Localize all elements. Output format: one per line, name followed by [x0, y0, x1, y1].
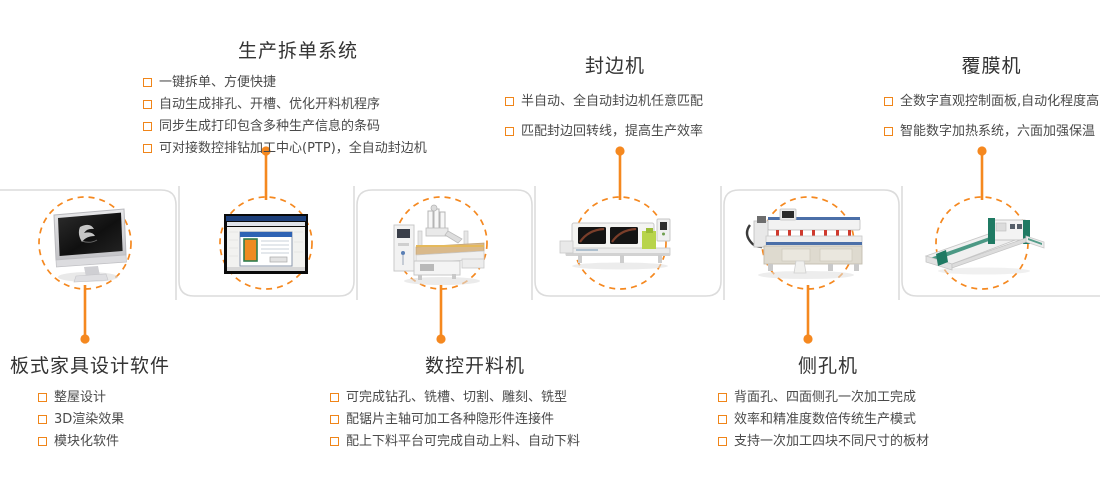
laminating-machine-photo	[922, 214, 1046, 276]
block-title-side-hole: 侧孔机	[718, 355, 958, 378]
bullet-item: 智能数字加热系统，六面加强保温	[884, 117, 1099, 147]
bullet-list-order-splitting: 一键拆单、方便快捷 自动生成排孔、开槽、优化开料机程序 同步生成打印包含多种生产…	[143, 72, 473, 160]
side-drilling-machine-photo	[742, 205, 870, 281]
bullet-square-icon	[330, 393, 339, 402]
connector-dot-4	[615, 146, 624, 155]
text-block-order-splitting: 生产拆单系统 一键拆单、方便快捷 自动生成排孔、开槽、优化开料机程序 同步生成打…	[143, 40, 473, 160]
connector-dot-5	[803, 334, 812, 343]
text-block-side-hole: 侧孔机 背面孔、四面侧孔一次加工完成 效率和精准度数倍传统生产模式 支持一次加工…	[718, 355, 958, 453]
bullet-item: 可对接数控排钻加工中心(PTP)，全自动封边机	[143, 138, 473, 160]
bullet-text: 可对接数控排钻加工中心(PTP)，全自动封边机	[159, 138, 427, 160]
bullet-item: 整屋设计	[38, 387, 170, 409]
node-order-splitting[interactable]	[224, 214, 308, 274]
bullet-text: 配锯片主轴可加工各种隐形件连接件	[346, 409, 554, 431]
bullet-item: 配锯片主轴可加工各种隐形件连接件	[330, 409, 630, 431]
node-cnc-cutting[interactable]	[388, 203, 492, 287]
bullet-list-side-hole: 背面孔、四面侧孔一次加工完成 效率和精准度数倍传统生产模式 支持一次加工四块不同…	[718, 387, 958, 453]
bullet-text: 全数字直观控制面板,自动化程度高	[900, 87, 1099, 117]
node-laminating[interactable]	[922, 214, 1046, 276]
imac-computer-photo	[40, 205, 132, 283]
bullet-square-icon	[143, 144, 152, 153]
bullet-list-edge-banding: 半自动、全自动封边机任意匹配 匹配封边回转线，提高生产效率	[505, 87, 735, 147]
bullet-item: 背面孔、四面侧孔一次加工完成	[718, 387, 958, 409]
bullet-square-icon	[718, 437, 727, 446]
bullet-item: 全数字直观控制面板,自动化程度高	[884, 87, 1099, 117]
bullet-item: 自动生成排孔、开槽、优化开料机程序	[143, 94, 473, 116]
bullet-text: 半自动、全自动封边机任意匹配	[521, 87, 703, 117]
bullet-item: 效率和精准度数倍传统生产模式	[718, 409, 958, 431]
bullet-square-icon	[143, 100, 152, 109]
bullet-item: 一键拆单、方便快捷	[143, 72, 473, 94]
bullet-square-icon	[330, 415, 339, 424]
software-screen-photo	[224, 214, 308, 274]
block-title-cnc-cutting: 数控开料机	[330, 355, 630, 378]
bullet-text: 可完成钻孔、铣槽、切割、雕刻、铣型	[346, 387, 567, 409]
bullet-text: 智能数字加热系统，六面加强保温	[900, 117, 1095, 147]
bullet-text: 匹配封边回转线，提高生产效率	[521, 117, 703, 147]
bullet-square-icon	[884, 127, 893, 136]
bullet-square-icon	[884, 97, 893, 106]
bullet-text: 背面孔、四面侧孔一次加工完成	[734, 387, 916, 409]
text-block-cnc-cutting: 数控开料机 可完成钻孔、铣槽、切割、雕刻、铣型 配锯片主轴可加工各种隐形件连接件…	[330, 355, 630, 453]
bullet-item: 支持一次加工四块不同尺寸的板材	[718, 431, 958, 453]
bullet-text: 3D渲染效果	[54, 409, 124, 431]
connector-dot-3	[436, 334, 445, 343]
bullet-square-icon	[38, 415, 47, 424]
block-title-design-software: 板式家具设计软件	[10, 355, 170, 378]
bullet-text: 模块化软件	[54, 431, 119, 453]
bullet-square-icon	[718, 393, 727, 402]
block-title-laminating: 覆膜机	[884, 55, 1099, 78]
block-title-order-splitting: 生产拆单系统	[143, 40, 473, 63]
bullet-text: 支持一次加工四块不同尺寸的板材	[734, 431, 929, 453]
bullet-square-icon	[718, 415, 727, 424]
bullet-item: 匹配封边回转线，提高生产效率	[505, 117, 735, 147]
connector-dot-6	[977, 146, 986, 155]
bullet-text: 效率和精准度数倍传统生产模式	[734, 409, 916, 431]
bullet-text: 一键拆单、方便快捷	[159, 72, 276, 94]
bullet-item: 3D渲染效果	[38, 409, 170, 431]
bullet-text: 同步生成打印包含多种生产信息的条码	[159, 116, 380, 138]
node-edge-banding[interactable]	[558, 215, 684, 271]
node-side-hole[interactable]	[742, 205, 870, 281]
bullet-square-icon	[505, 127, 514, 136]
bullet-item: 半自动、全自动封边机任意匹配	[505, 87, 735, 117]
text-block-laminating: 覆膜机 全数字直观控制面板,自动化程度高 智能数字加热系统，六面加强保温	[884, 55, 1099, 147]
cnc-router-machine-photo	[388, 203, 492, 287]
bullet-square-icon	[505, 97, 514, 106]
connector-dot-1	[80, 334, 89, 343]
bullet-square-icon	[38, 393, 47, 402]
bullet-item: 可完成钻孔、铣槽、切割、雕刻、铣型	[330, 387, 630, 409]
infographic-stage: 板式家具设计软件 整屋设计 3D渲染效果 模块化软件 生产拆单系统 一键拆单、方…	[0, 0, 1100, 495]
bullet-square-icon	[143, 78, 152, 87]
bullet-square-icon	[330, 437, 339, 446]
bullet-text: 配上下料平台可完成自动上料、自动下料	[346, 431, 580, 453]
bullet-list-design-software: 整屋设计 3D渲染效果 模块化软件	[38, 387, 170, 453]
text-block-edge-banding: 封边机 半自动、全自动封边机任意匹配 匹配封边回转线，提高生产效率	[505, 55, 735, 147]
node-design-software[interactable]	[40, 205, 132, 283]
bullet-item: 模块化软件	[38, 431, 170, 453]
text-block-design-software: 板式家具设计软件 整屋设计 3D渲染效果 模块化软件	[10, 355, 170, 453]
bullet-list-cnc-cutting: 可完成钻孔、铣槽、切割、雕刻、铣型 配锯片主轴可加工各种隐形件连接件 配上下料平…	[330, 387, 630, 453]
bullet-list-laminating: 全数字直观控制面板,自动化程度高 智能数字加热系统，六面加强保温	[884, 87, 1099, 147]
bullet-square-icon	[143, 122, 152, 131]
bullet-item: 配上下料平台可完成自动上料、自动下料	[330, 431, 630, 453]
bullet-text: 自动生成排孔、开槽、优化开料机程序	[159, 94, 380, 116]
bullet-text: 整屋设计	[54, 387, 106, 409]
bullet-item: 同步生成打印包含多种生产信息的条码	[143, 116, 473, 138]
block-title-edge-banding: 封边机	[505, 55, 735, 78]
dashed-circle-group	[39, 197, 1028, 289]
bullet-square-icon	[38, 437, 47, 446]
edge-banding-machine-photo	[558, 215, 684, 271]
